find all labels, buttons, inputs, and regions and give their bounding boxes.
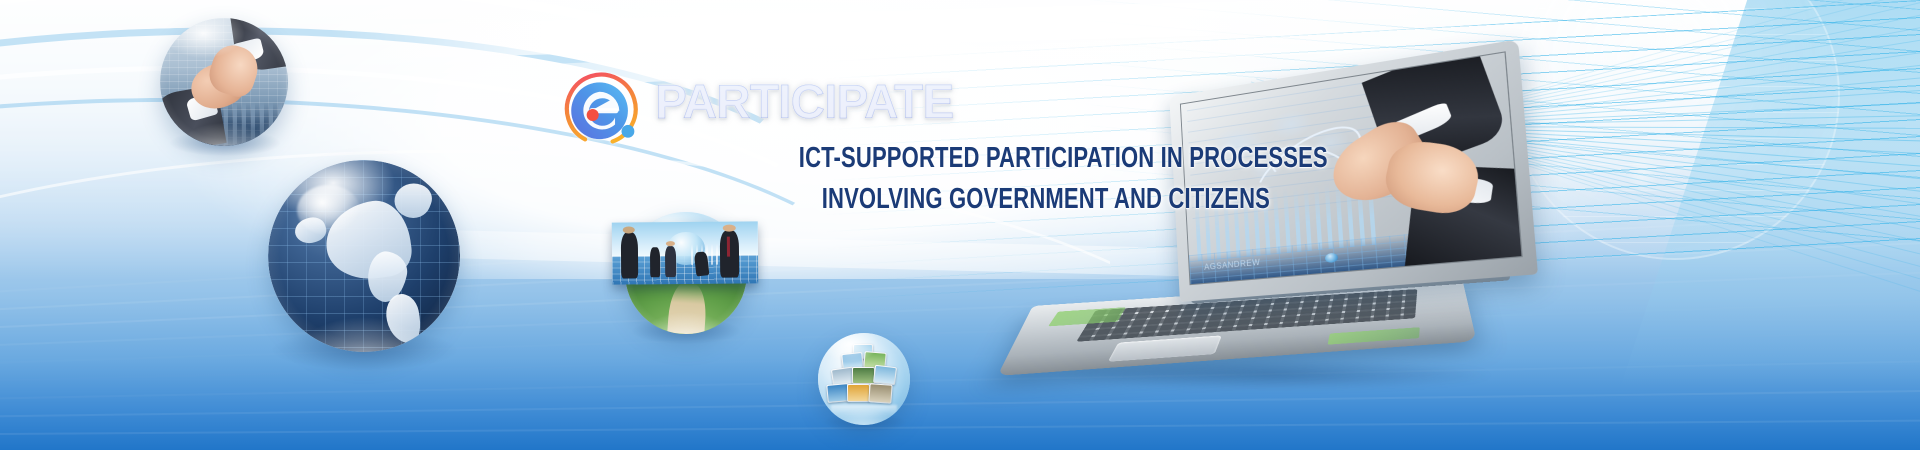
screens-sphere xyxy=(818,333,910,425)
e-participate-banner: AGSANDREW xyxy=(0,0,1920,450)
background-light-streak xyxy=(0,418,1920,437)
monitor-screen xyxy=(873,365,897,385)
handshake-sphere xyxy=(160,18,288,146)
monitor-screen xyxy=(847,384,869,403)
laptop-sticker xyxy=(1328,327,1421,345)
laptop: AGSANDREW xyxy=(1040,92,1520,382)
tagline-line-2: INVOLVING GOVERNMENT AND CITIZENS xyxy=(799,179,1270,220)
business-person xyxy=(621,232,639,278)
business-person xyxy=(650,247,660,277)
laptop-touchpad xyxy=(1107,336,1221,362)
globe-specular-highlight xyxy=(297,185,360,235)
tagline: ICT-SUPPORTED PARTICIPATION IN PROCESSES… xyxy=(799,138,1270,220)
monitor-screen xyxy=(852,367,875,384)
business-person xyxy=(664,246,676,277)
world-globe xyxy=(268,160,460,352)
business-people-photo xyxy=(612,221,759,284)
brand-wordmark: PARTICIPATE xyxy=(655,79,953,127)
monitor-reflection xyxy=(831,405,897,418)
business-person xyxy=(720,230,739,277)
monitor-screen xyxy=(868,383,892,403)
e-participate-logo-icon xyxy=(560,66,646,152)
tagline-line-1: ICT-SUPPORTED PARTICIPATION IN PROCESSES xyxy=(799,138,1270,179)
